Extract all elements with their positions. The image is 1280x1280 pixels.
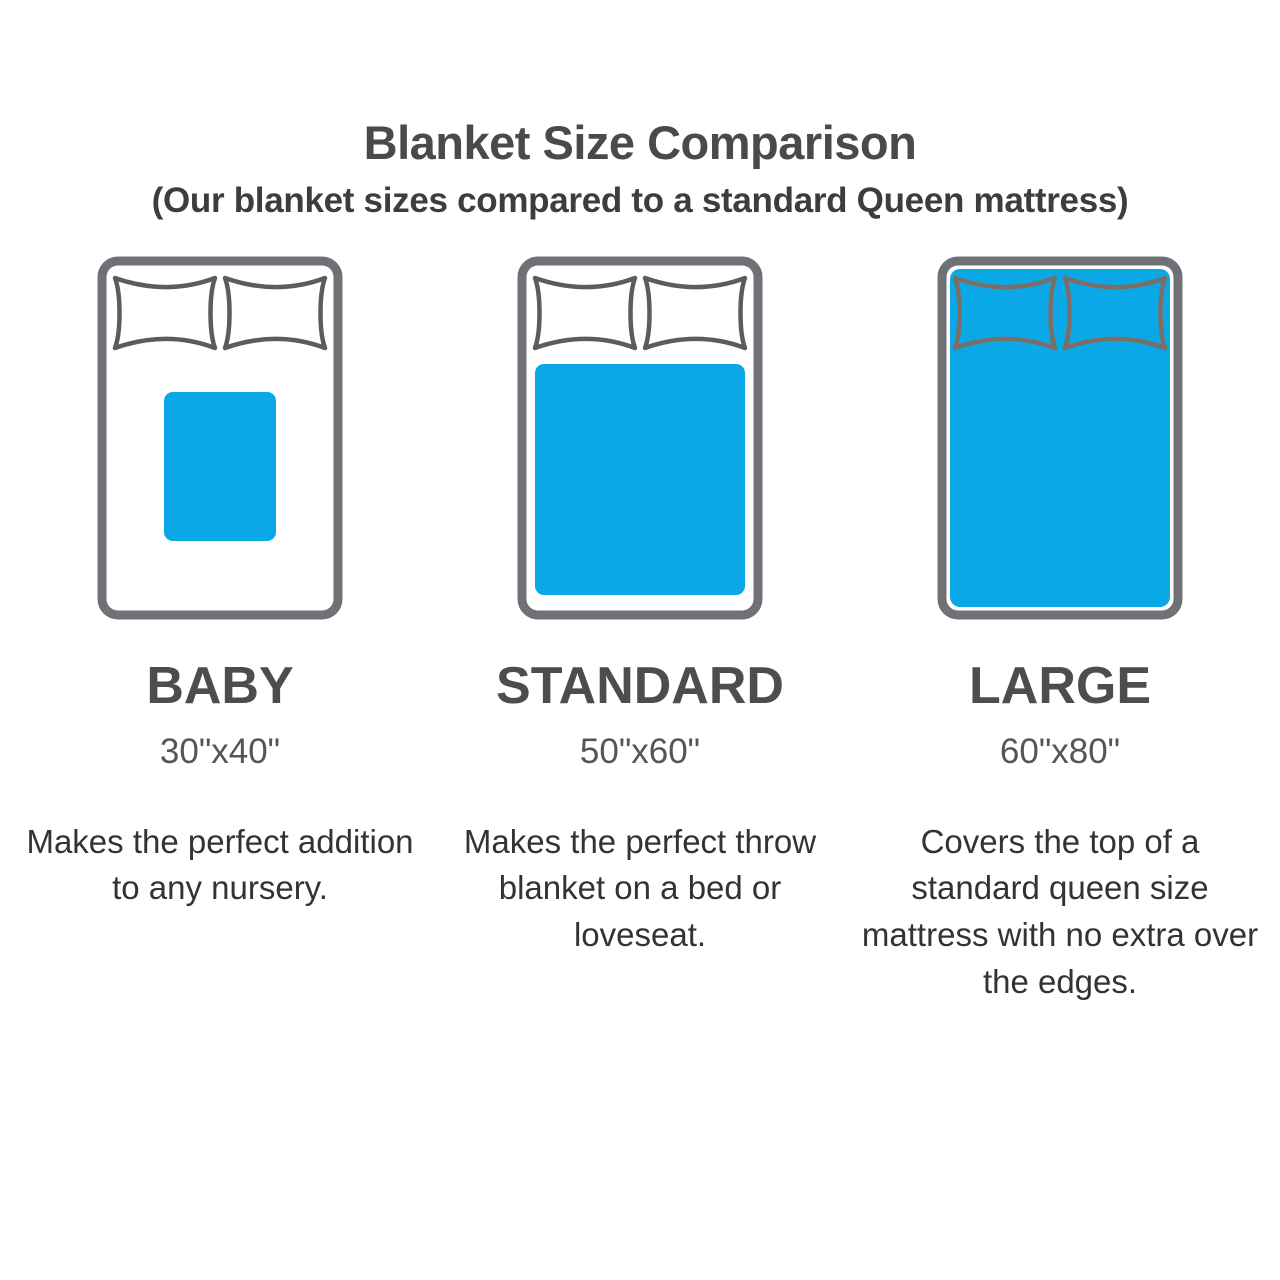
page-title: Blanket Size Comparison xyxy=(0,118,1280,167)
size-description-large: Covers the top of a standard queen size … xyxy=(860,819,1260,1006)
size-dimensions-large: 60"x80" xyxy=(1000,734,1120,769)
size-description-standard: Makes the perfect throw blanket on a bed… xyxy=(440,819,840,960)
bed-diagram-large xyxy=(937,256,1183,620)
comparison-column-standard: STANDARD 50"x60" Makes the perfect throw… xyxy=(430,256,850,960)
size-name-large: LARGE xyxy=(969,660,1151,712)
page-header: Blanket Size Comparison (Our blanket siz… xyxy=(0,0,1280,222)
comparison-columns: BABY 30"x40" Makes the perfect addition … xyxy=(0,256,1280,1006)
pillow-left xyxy=(115,278,215,348)
page-subtitle: (Our blanket sizes compared to a standar… xyxy=(0,181,1280,221)
comparison-column-large: LARGE 60"x80" Covers the top of a standa… xyxy=(850,256,1270,1006)
blanket-baby xyxy=(164,392,276,541)
comparison-column-baby: BABY 30"x40" Makes the perfect addition … xyxy=(10,256,430,913)
pillow-right xyxy=(645,278,745,348)
pillow-left xyxy=(535,278,635,348)
size-name-baby: BABY xyxy=(146,660,293,712)
size-name-standard: STANDARD xyxy=(496,660,784,712)
blanket-standard xyxy=(535,364,745,595)
blanket-large xyxy=(950,269,1170,607)
bed-diagram-baby xyxy=(97,256,343,620)
size-description-baby: Makes the perfect addition to any nurser… xyxy=(20,819,420,913)
bed-diagram-standard xyxy=(517,256,763,620)
pillow-right xyxy=(225,278,325,348)
size-dimensions-baby: 30"x40" xyxy=(160,734,280,769)
size-dimensions-standard: 50"x60" xyxy=(580,734,700,769)
